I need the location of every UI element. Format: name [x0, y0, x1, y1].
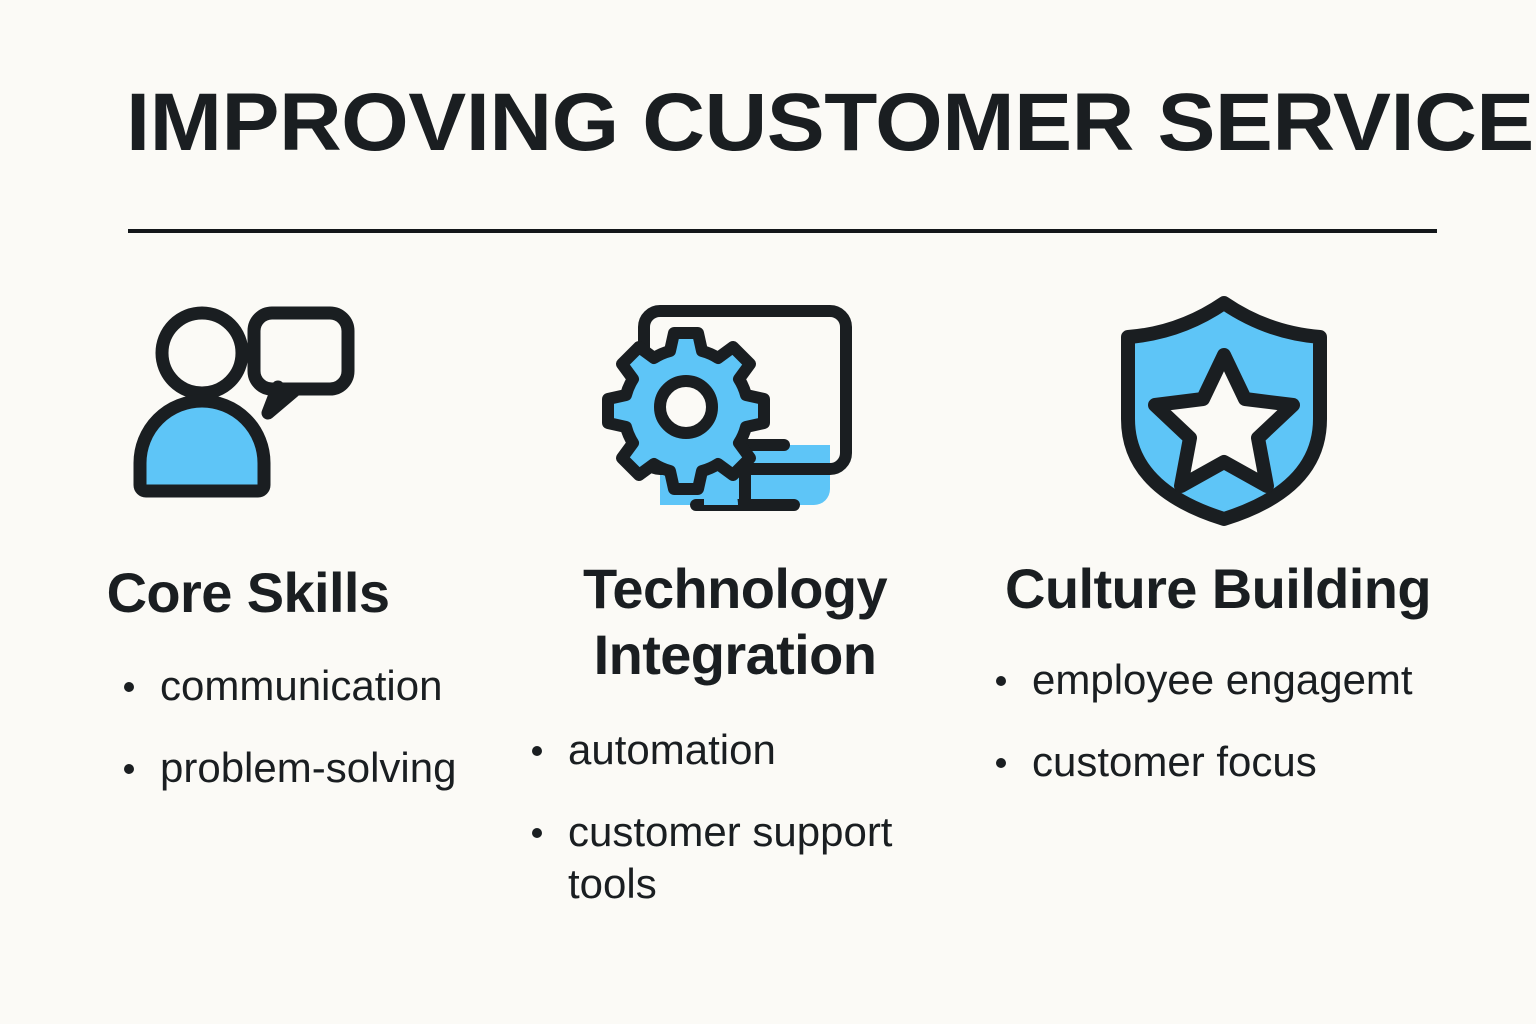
- title-divider: [128, 229, 1437, 233]
- bullet-list: automation customer support tools: [500, 724, 980, 910]
- monitor-gear-icon: [500, 286, 980, 536]
- page-title: IMPROVING CUSTOMER SERVICE: [126, 78, 1525, 168]
- column-culture-building: Culture Building employee engagemt custo…: [980, 286, 1536, 818]
- column-heading: Core Skills: [26, 560, 500, 626]
- infographic-poster: IMPROVING CUSTOMER SERVICE Core Skills c…: [0, 0, 1536, 1024]
- list-item: customer focus: [994, 736, 1536, 788]
- bullet-list: employee engagemt customer focus: [980, 654, 1536, 788]
- list-item: automation: [530, 724, 980, 776]
- column-heading: Technology Integration: [500, 556, 980, 688]
- column-heading: Culture Building: [980, 556, 1536, 622]
- bullet-list: communication problem-solving: [26, 660, 500, 794]
- list-item: employee engagemt: [994, 654, 1536, 706]
- column-technology-integration: Technology Integration automation custom…: [500, 286, 980, 940]
- list-item: problem-solving: [122, 742, 500, 794]
- shield-star-icon: [980, 286, 1536, 536]
- list-item: communication: [122, 660, 500, 712]
- list-item: customer support tools: [530, 806, 980, 910]
- column-core-skills: Core Skills communication problem-solvin…: [0, 286, 500, 824]
- columns-container: Core Skills communication problem-solvin…: [0, 286, 1536, 986]
- person-speech-bubble-icon: [26, 286, 500, 536]
